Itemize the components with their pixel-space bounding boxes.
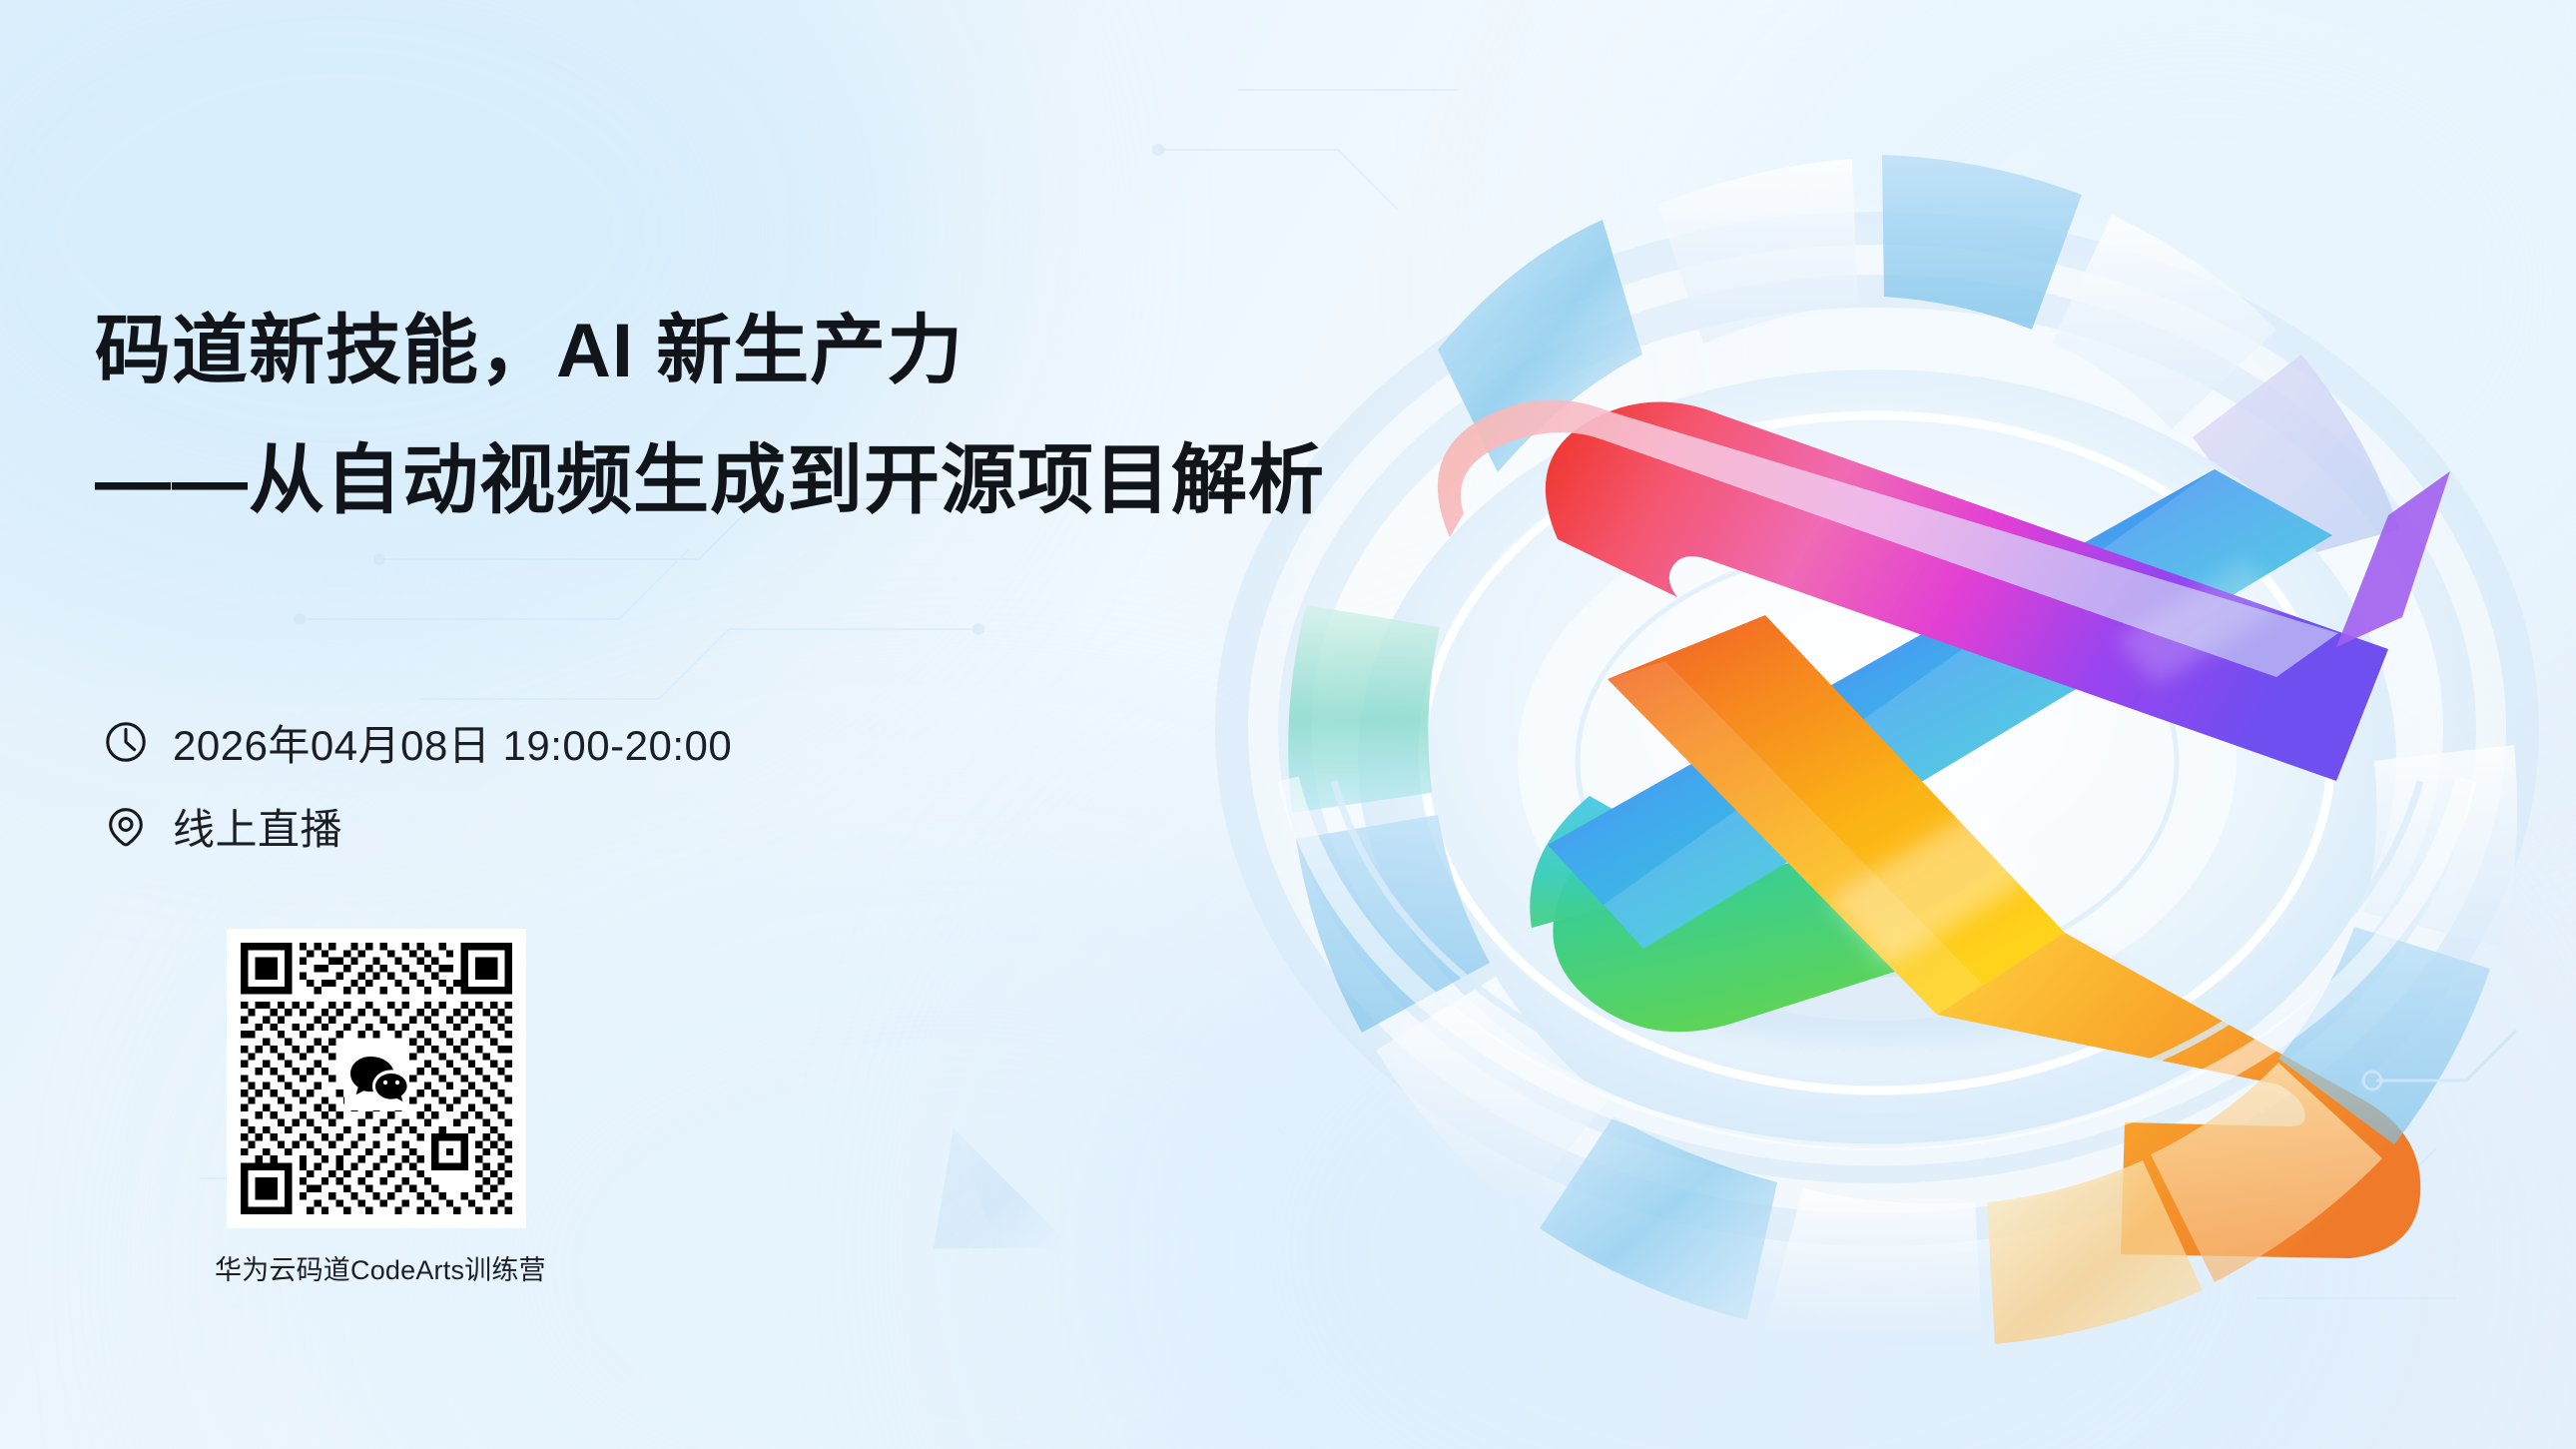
qr-code[interactable] bbox=[227, 929, 526, 1228]
clock-icon bbox=[103, 719, 149, 765]
event-datetime-row: 2026年04月08日 19:00-20:00 bbox=[103, 711, 732, 773]
promo-banner: 码道新技能，AI 新生产力 ——从自动视频生成到开源项目解析 2026年04月0… bbox=[0, 0, 2576, 1449]
content-column: 码道新技能，AI 新生产力 ——从自动视频生成到开源项目解析 2026年04月0… bbox=[95, 0, 1393, 1449]
page-title: 码道新技能，AI 新生产力 ——从自动视频生成到开源项目解析 bbox=[95, 296, 1413, 537]
headline-line-1: 码道新技能，AI 新生产力 bbox=[95, 296, 1413, 407]
background-wash-top-right bbox=[1657, 0, 2576, 739]
qr-block: 华为云码道CodeArts训练营 bbox=[227, 929, 526, 1287]
event-location-row: 线上直播 bbox=[103, 795, 732, 857]
event-location-text: 线上直播 bbox=[173, 796, 342, 857]
headline-line-2: ——从自动视频生成到开源项目解析 bbox=[95, 425, 1413, 537]
event-datetime-text: 2026年04月08日 19:00-20:00 bbox=[173, 712, 732, 773]
location-pin-icon bbox=[103, 803, 149, 849]
event-meta: 2026年04月08日 19:00-20:00 线上直播 bbox=[103, 711, 732, 879]
qr-caption: 华为云码道CodeArts训练营 bbox=[215, 1248, 514, 1287]
wechat-bubble-icon bbox=[344, 1047, 408, 1110]
